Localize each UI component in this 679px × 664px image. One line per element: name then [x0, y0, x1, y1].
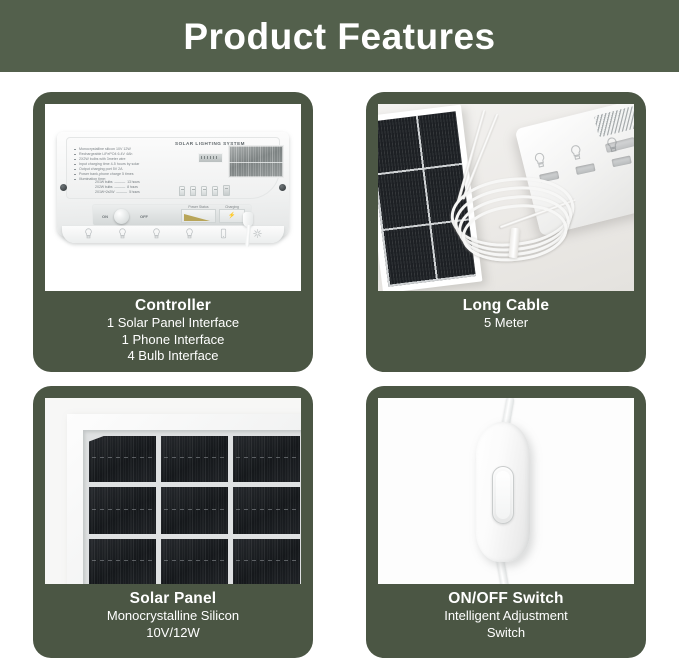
solar-cell — [233, 539, 300, 584]
feature-card-solar-panel: Solar Panel Monocrystalline Silicon 10V/… — [33, 386, 313, 658]
card-detail-line: 4 Bulb Interface — [45, 348, 301, 365]
card-detail-line: Monocrystalline Silicon — [45, 608, 301, 625]
power-status-label: Power Status — [182, 205, 215, 209]
solar-cell — [233, 436, 300, 482]
hub-port — [604, 134, 634, 168]
cable-jack — [611, 156, 631, 168]
bulb-icon — [152, 228, 161, 239]
card-detail-line: 5 Meter — [378, 315, 634, 332]
card-caption: Long Cable 5 Meter — [378, 296, 634, 332]
bulb-port — [212, 186, 218, 196]
bulb-icon — [568, 143, 585, 162]
battery-level-wedge-icon — [184, 214, 210, 221]
card-title: Long Cable — [378, 296, 634, 315]
card-title: Solar Panel — [45, 589, 301, 608]
bulb-icon — [532, 151, 549, 170]
usb-port — [223, 185, 230, 196]
timer-row: 2X1W+2x2W ——— 5 hours — [95, 190, 140, 195]
bulb-icon — [84, 228, 93, 239]
rocker-button-icon — [492, 466, 514, 524]
controller-display-icon — [198, 153, 223, 163]
coiled-cable — [447, 172, 578, 280]
card-detail-line: 1 Phone Interface — [45, 332, 301, 349]
solar-cell — [89, 539, 156, 584]
timer-value: 8 hours — [127, 185, 138, 189]
controller-switch-bar: ON OFF Power Status Charging ⚡ — [92, 204, 252, 226]
phone-icon — [219, 228, 228, 239]
long-cable-photo — [378, 104, 634, 291]
card-detail-line: 1 Solar Panel Interface — [45, 315, 301, 332]
feature-card-long-cable: Long Cable 5 Meter — [366, 92, 646, 372]
switch-on-label: ON — [102, 214, 108, 219]
switch-off-label: OFF — [140, 214, 148, 219]
solar-cell — [161, 487, 228, 533]
solar-cell — [89, 487, 156, 533]
bulb-port — [179, 186, 185, 196]
controller-solar-cell-graphic — [228, 145, 284, 178]
card-title: ON/OFF Switch — [378, 589, 634, 608]
hub-port — [568, 141, 598, 175]
card-title: Controller — [45, 296, 301, 315]
timer-value: 13 hours — [127, 180, 139, 184]
card-caption: Controller 1 Solar Panel Interface 1 Pho… — [45, 296, 301, 365]
bulb-icon — [604, 136, 621, 155]
solar-cell — [161, 539, 228, 584]
header-band: Product Features — [0, 0, 679, 72]
on-off-switch-photo — [378, 398, 634, 584]
bulb-port — [190, 186, 196, 196]
product-features-infographic: Product Features SOLAR LIGHTING SYSTEM M… — [0, 0, 679, 664]
feature-card-controller: SOLAR LIGHTING SYSTEM Monocrystalline si… — [33, 92, 313, 372]
power-status-meter: Power Status — [181, 209, 216, 223]
solar-cell — [161, 436, 228, 482]
timer-label: 2X2W bulbs — [95, 185, 112, 189]
page-title: Product Features — [183, 18, 495, 55]
solar-cell — [233, 487, 300, 533]
controller-spec-list: Monocrystalline silicon 10V 12W Recharge… — [74, 147, 194, 182]
plug-cord — [245, 225, 251, 247]
card-detail-line: Intelligent Adjustment — [378, 608, 634, 625]
panel-outer-frame — [67, 414, 301, 584]
bulb-port — [201, 186, 207, 196]
bulb-icon — [185, 228, 194, 239]
bulb-icon — [118, 228, 127, 239]
solar-panel-photo — [45, 398, 301, 584]
card-caption: Solar Panel Monocrystalline Silicon 10V/… — [45, 589, 301, 641]
timer-value: 5 hours — [129, 190, 140, 194]
timer-label: 2X1W+2x2W — [95, 190, 114, 194]
charging-label: Charging — [220, 205, 244, 209]
panel-inner-frame — [83, 430, 301, 584]
controller-plug — [241, 212, 255, 246]
timer-label: 2X1W bulbs — [95, 180, 112, 184]
feature-card-onoff-switch: ON/OFF Switch Intelligent Adjustment Swi… — [366, 386, 646, 658]
lightning-bolt-icon: ⚡ — [228, 213, 235, 219]
power-knob-icon — [114, 209, 129, 224]
card-caption: ON/OFF Switch Intelligent Adjustment Swi… — [378, 589, 634, 641]
solar-cell-grid — [89, 436, 301, 584]
screw-icon — [279, 184, 286, 191]
card-detail-line: Switch — [378, 625, 634, 642]
controller-port-row — [179, 183, 253, 196]
solar-cell — [89, 436, 156, 482]
controller-illumination-table: 2X1W bulbs ——— 13 hours 2X2W bulbs ——— 8… — [95, 180, 140, 196]
card-detail-line: 10V/12W — [45, 625, 301, 642]
controller-photo: SOLAR LIGHTING SYSTEM Monocrystalline si… — [45, 104, 301, 291]
inline-switch-body — [476, 422, 530, 562]
cable-jack — [575, 163, 595, 175]
screw-icon — [60, 184, 67, 191]
